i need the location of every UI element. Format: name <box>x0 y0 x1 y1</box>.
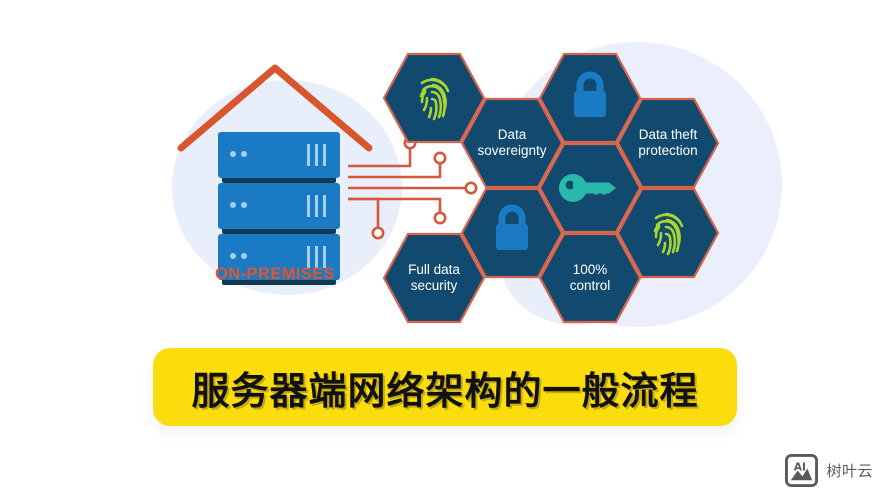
title-banner: 服务器端网络架构的一般流程 <box>153 348 737 426</box>
hexagon-shape <box>538 232 642 324</box>
on-premises-label: ON-PREMISES <box>175 265 375 284</box>
server-unit <box>218 183 340 229</box>
server-vent-bars <box>307 144 326 166</box>
server-status-dots <box>230 151 247 157</box>
watermark: AI 树叶云 <box>785 452 873 488</box>
security-honeycomb: Data sovereignty Data theft protection <box>382 52 702 322</box>
server-status-dots <box>230 253 247 259</box>
on-premises-illustration: ON-PREMISES <box>175 60 375 295</box>
infographic-canvas: ON-PREMISES <box>0 0 889 500</box>
server-status-dots <box>230 202 247 208</box>
server-unit <box>218 132 340 178</box>
server-vent-bars <box>307 195 326 217</box>
banner-title: 服务器端网络架构的一般流程 <box>191 360 698 415</box>
ai-image-icon: AI <box>785 454 818 487</box>
hex-100-percent-control[interactable]: 100% control <box>538 232 642 324</box>
hexagon-shape <box>382 232 486 324</box>
hex-full-data-security[interactable]: Full data security <box>382 232 486 324</box>
watermark-label: 树叶云 <box>826 460 873 481</box>
svg-text:AI: AI <box>794 460 806 473</box>
